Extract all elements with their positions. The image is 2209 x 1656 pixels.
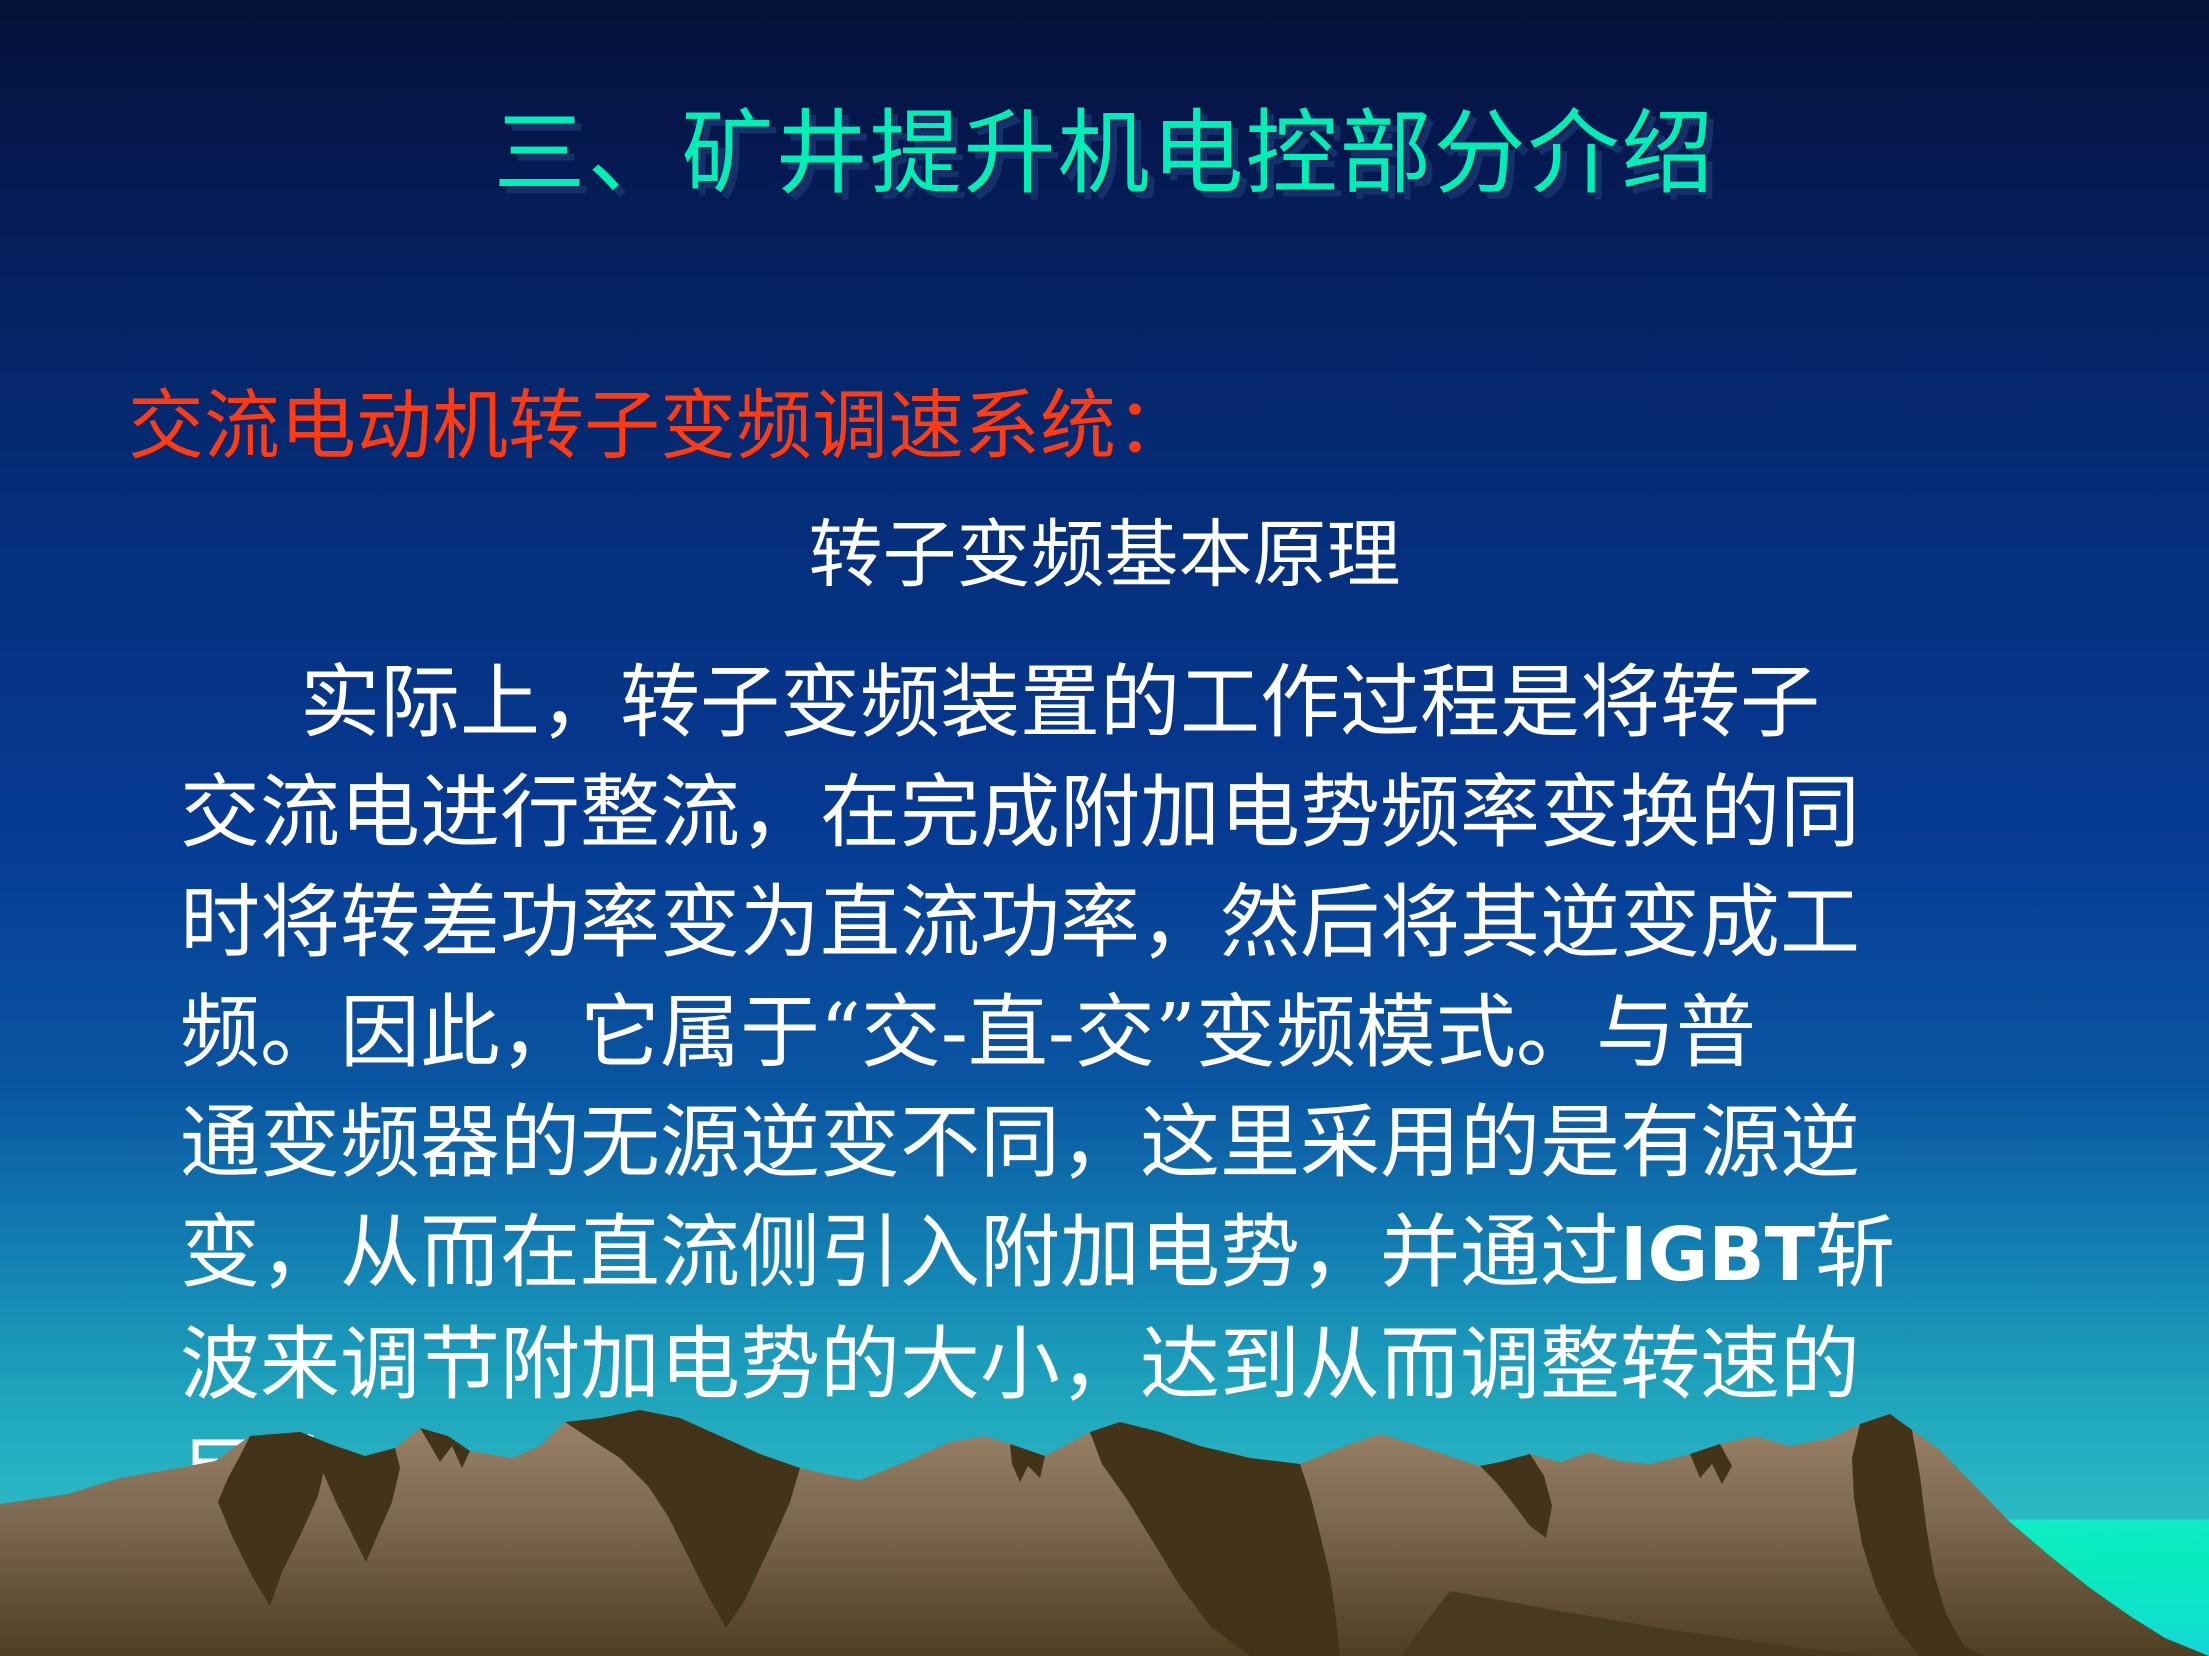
presentation-slide: 三、矿井提升机电控部分介绍 交流电动机转子变频调速系统： 转子变频基本原理 实际… [0, 0, 2209, 1656]
igbt-term: IGBT [1620, 1212, 1815, 1298]
body-line-3: 时将转差功率变为直流功率，然后将其逆变成工 [180, 868, 2080, 978]
body-paragraph: 实际上，转子变频装置的工作过程是将转子 交流电进行整流，在完成附加电势频率变换的… [180, 648, 2080, 1530]
mountain-silhouette-icon [0, 1406, 2209, 1656]
body-line-4: 频。因此，它属于“交-直-交”变频模式。与普 [180, 978, 2080, 1088]
sub-heading: 转子变频基本原理 [0, 518, 2209, 592]
body-line-6-head: 变，从而在直流侧引入附加电势，并通过 [180, 1206, 1620, 1299]
body-line-5: 通变频器的无源逆变不同，这里采用的是有源逆 [180, 1088, 2080, 1198]
body-line-6: 变，从而在直流侧引入附加电势，并通过IGBT斩 [180, 1198, 2080, 1310]
body-line-2: 交流电进行整流，在完成附加电势频率变换的同 [180, 758, 2080, 868]
body-line-1-text: 实际上，转子变频装置的工作过程是将转子 [300, 656, 1820, 749]
body-line-6-tail: 斩 [1815, 1206, 1895, 1299]
slide-title: 三、矿井提升机电控部分介绍 [0, 108, 2209, 200]
section-heading: 交流电动机转子变频调速系统： [128, 388, 1192, 464]
body-line-1: 实际上，转子变频装置的工作过程是将转子 [180, 648, 2080, 758]
body-line-7: 波来调节附加电势的大小，达到从而调整转速的 [180, 1310, 2080, 1420]
